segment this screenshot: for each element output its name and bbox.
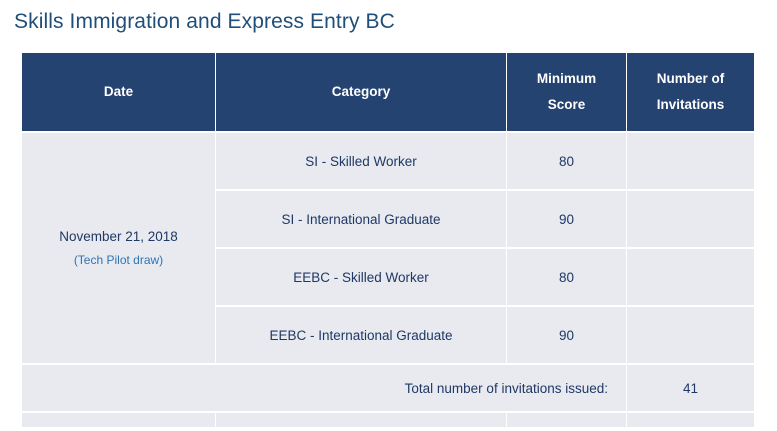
column-header-category: Category bbox=[216, 53, 506, 131]
table-row-partial bbox=[22, 413, 754, 427]
column-header-minimum-score: Minimum Score bbox=[507, 53, 626, 131]
cell-invitations bbox=[627, 191, 754, 247]
cell-category: SI - International Graduate bbox=[216, 191, 506, 247]
column-header-invitations-line1: Number of bbox=[657, 71, 725, 86]
cell-minimum-score: 90 bbox=[507, 307, 626, 363]
column-header-minimum-score-line2: Score bbox=[548, 97, 586, 112]
cell-invitations bbox=[627, 307, 754, 363]
cell-minimum-score: 80 bbox=[507, 133, 626, 189]
draw-results-table-container: Date Category Minimum Score Number of In… bbox=[21, 51, 752, 429]
cell-invitations bbox=[627, 133, 754, 189]
table-total-row: Total number of invitations issued: 41 bbox=[22, 365, 754, 411]
cell-category: EEBC - International Graduate bbox=[216, 307, 506, 363]
table-row: November 21, 2018 (Tech Pilot draw) SI -… bbox=[22, 133, 754, 189]
table-body: November 21, 2018 (Tech Pilot draw) SI -… bbox=[22, 133, 754, 427]
draw-date-cell: November 21, 2018 (Tech Pilot draw) bbox=[22, 133, 215, 363]
document-page: Skills Immigration and Express Entry BC … bbox=[0, 0, 777, 431]
column-header-number-of-invitations: Number of Invitations bbox=[627, 53, 754, 131]
cell-minimum-score: 80 bbox=[507, 249, 626, 305]
column-header-minimum-score-line1: Minimum bbox=[537, 71, 596, 86]
cell-category: SI - Skilled Worker bbox=[216, 133, 506, 189]
table-header: Date Category Minimum Score Number of In… bbox=[22, 53, 754, 131]
total-invitations-value: 41 bbox=[627, 365, 754, 411]
table-header-row: Date Category Minimum Score Number of In… bbox=[22, 53, 754, 131]
total-invitations-label: Total number of invitations issued: bbox=[22, 365, 626, 411]
draw-date-note: (Tech Pilot draw) bbox=[30, 250, 207, 270]
cell-minimum-score-partial bbox=[507, 413, 626, 427]
cell-category: EEBC - Skilled Worker bbox=[216, 249, 506, 305]
column-header-invitations-line2: Invitations bbox=[657, 97, 725, 112]
page-title: Skills Immigration and Express Entry BC bbox=[14, 8, 395, 36]
cell-invitations-partial bbox=[627, 413, 754, 427]
draw-date: November 21, 2018 bbox=[30, 227, 207, 247]
draw-results-table: Date Category Minimum Score Number of In… bbox=[21, 51, 755, 429]
column-header-date: Date bbox=[22, 53, 215, 131]
cell-date-partial bbox=[22, 413, 215, 427]
cell-invitations bbox=[627, 249, 754, 305]
cell-category-partial bbox=[216, 413, 506, 427]
cell-minimum-score: 90 bbox=[507, 191, 626, 247]
